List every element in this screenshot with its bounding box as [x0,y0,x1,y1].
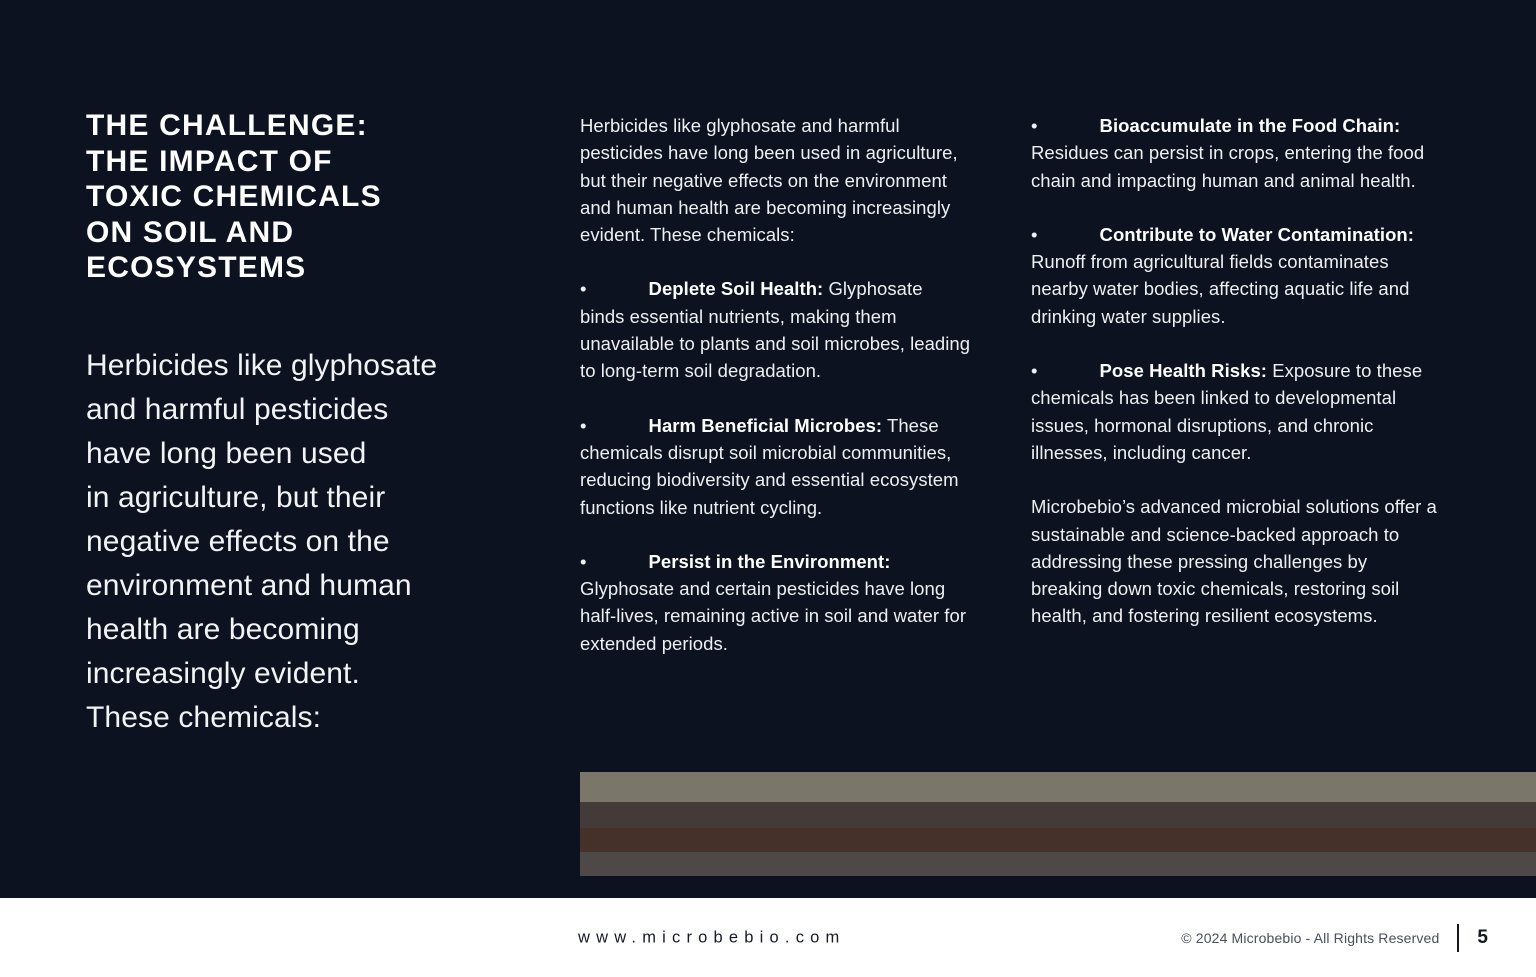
page-title-line-5: ECOSYSTEMS [86,250,516,286]
bullet-marker: • [1031,357,1038,384]
soil-band-clay [580,828,1536,852]
bullet-bioaccumulate-in-the-food-chain: •Bioaccumulate in the Food Chain: Residu… [1031,112,1443,194]
slide-page: THE CHALLENGE: THE IMPACT OF TOXIC CHEMI… [0,0,1536,977]
page-footer: www.microbebio.com © 2024 Microbebio - A… [0,898,1536,977]
footer-copyright: © 2024 Microbebio - All Rights Reserved [1181,930,1457,946]
page-title-line-2: THE IMPACT OF [86,144,516,180]
soil-band-subsoil [580,802,1536,828]
lead-line-6: environment and human [86,564,516,608]
bullet-text: Glyphosate and certain pesticides have l… [580,578,966,654]
bullet-title: Deplete Soil Health: [649,278,824,299]
bullet-marker: • [580,275,587,302]
bullet-persist-in-the-environment: •Persist in the Environment: Glyphosate … [580,548,972,657]
bullet-title: Bioaccumulate in the Food Chain: [1100,115,1401,136]
soil-layers-photo-band [580,772,1536,876]
bullet-deplete-soil-health: •Deplete Soil Health: Glyphosate binds e… [580,275,972,384]
closing-paragraph: Microbebio’s advanced microbial solution… [1031,493,1443,629]
bullet-marker: • [1031,112,1038,139]
soil-band-bedrock [580,852,1536,876]
footer-right-group: © 2024 Microbebio - All Rights Reserved … [1181,924,1488,952]
lead-line-1: Herbicides like glyphosate [86,344,516,388]
lead-line-2: and harmful pesticides [86,388,516,432]
page-title-line-1: THE CHALLENGE: [86,108,516,144]
lead-line-3: have long been used [86,432,516,476]
right-column: •Bioaccumulate in the Food Chain: Residu… [1031,112,1443,630]
bullet-marker: • [1031,221,1038,248]
lead-line-9: These chemicals: [86,696,516,740]
bullet-title: Harm Beneficial Microbes: [649,415,883,436]
bullet-title: Contribute to Water Contamination: [1100,224,1414,245]
bullet-marker: • [580,548,587,575]
soil-band-topsoil [580,772,1536,802]
slide-body: THE CHALLENGE: THE IMPACT OF TOXIC CHEMI… [0,0,1536,898]
bullet-contribute-to-water-contamination: •Contribute to Water Contamination: Runo… [1031,221,1443,330]
bullet-title: Persist in the Environment: [649,551,891,572]
bullet-text: Runoff from agricultural fields contamin… [1031,251,1409,327]
bullet-title: Pose Health Risks: [1100,360,1267,381]
lead-line-8: increasingly evident. [86,652,516,696]
middle-column: Herbicides like glyphosate and harmful p… [580,112,972,657]
bullet-harm-beneficial-microbes: •Harm Beneficial Microbes: These chemica… [580,412,972,521]
left-column: THE CHALLENGE: THE IMPACT OF TOXIC CHEMI… [86,108,516,740]
page-title: THE CHALLENGE: THE IMPACT OF TOXIC CHEMI… [86,108,516,286]
lead-line-7: health are becoming [86,608,516,652]
lead-line-4: in agriculture, but their [86,476,516,520]
lead-line-5: negative effects on the [86,520,516,564]
bullet-marker: • [580,412,587,439]
page-title-line-3: TOXIC CHEMICALS [86,179,516,215]
middle-intro-paragraph: Herbicides like glyphosate and harmful p… [580,112,972,248]
footer-website-url[interactable]: www.microbebio.com [578,928,845,947]
lead-paragraph: Herbicides like glyphosate and harmful p… [86,344,516,740]
bullet-pose-health-risks: •Pose Health Risks: Exposure to these ch… [1031,357,1443,466]
bullet-text: Residues can persist in crops, entering … [1031,142,1424,190]
page-number: 5 [1459,927,1488,949]
page-title-line-4: ON SOIL AND [86,215,516,251]
